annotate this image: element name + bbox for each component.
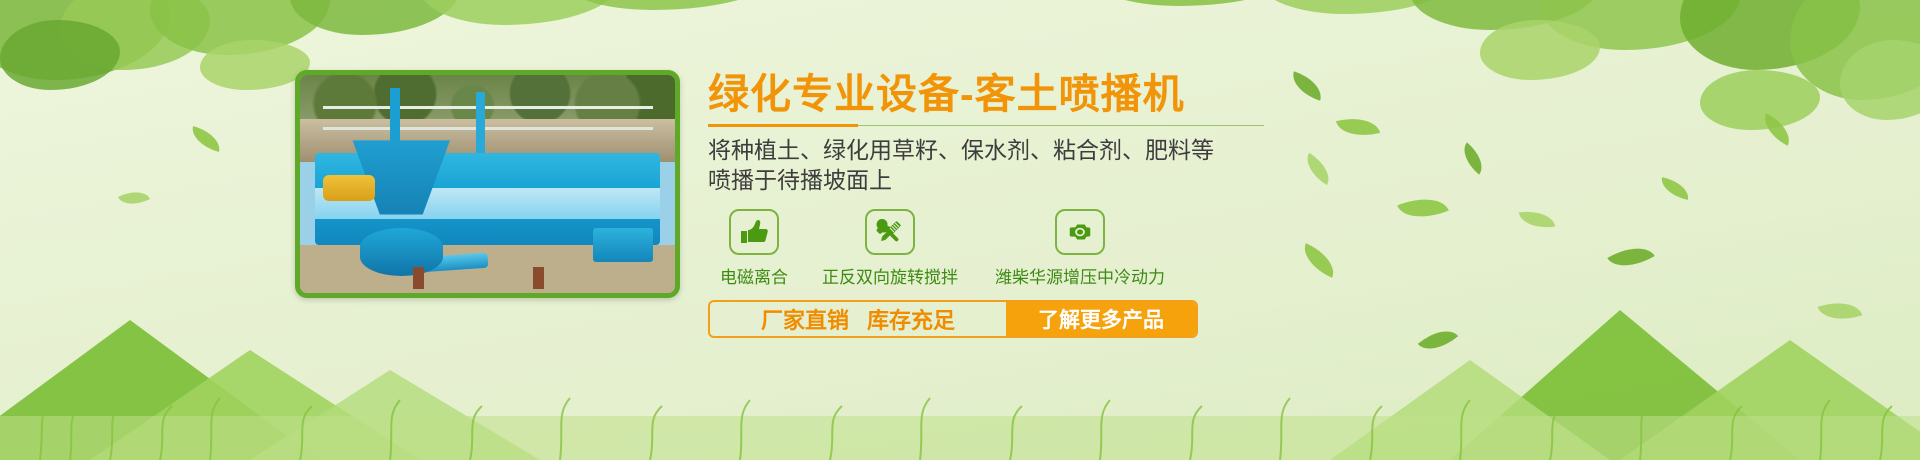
- leaf-decoration: [1300, 153, 1337, 185]
- leaf-decoration: [1288, 71, 1327, 101]
- feature-icon-box: [865, 209, 915, 255]
- feature-label: 电磁离合: [720, 263, 788, 288]
- grass-strip-decoration: [0, 350, 1920, 460]
- leaf-decoration: [1336, 111, 1380, 142]
- page-title: 绿化专业设备-客土喷播机: [708, 70, 1268, 118]
- thumbs-up-icon: [739, 218, 769, 246]
- leaf-decoration: [1397, 188, 1449, 227]
- feature-item-weichai-engine[interactable]: 潍柴华源增压中冷动力: [980, 209, 1180, 288]
- leaf-decoration: [1519, 208, 1555, 232]
- subtitle-line-1: 将种植土、绿化用草籽、保水剂、粘合剂、肥料等: [708, 135, 1268, 165]
- engine-gear-icon: [1065, 218, 1095, 246]
- leaf-decoration: [1659, 177, 1692, 200]
- subtitle-line-2: 喷播于待播坡面上: [708, 165, 1268, 195]
- cta-slogan-left: 厂家直销: [761, 303, 849, 335]
- leaf-decoration: [1758, 113, 1797, 146]
- learn-more-button[interactable]: 了解更多产品: [1006, 302, 1196, 336]
- cta-bar: 厂家直销 库存充足 了解更多产品: [708, 300, 1198, 338]
- feature-label: 正反双向旋转搅拌: [822, 263, 958, 288]
- feature-list: 电磁离合: [708, 209, 1268, 288]
- title-divider: [708, 124, 1264, 127]
- wrench-screwdriver-icon: [875, 218, 905, 246]
- leaf-decoration: [1456, 142, 1490, 174]
- leaf-decoration: [188, 126, 224, 152]
- cta-slogan: 厂家直销 库存充足: [710, 302, 1006, 336]
- product-photo[interactable]: [295, 70, 680, 298]
- product-photo-image: [300, 75, 675, 293]
- feature-item-bidirectional-mixing[interactable]: 正反双向旋转搅拌: [800, 209, 980, 288]
- feature-item-electromagnetic-clutch[interactable]: 电磁离合: [708, 209, 800, 288]
- feature-icon-box: [729, 209, 779, 255]
- promo-banner: 绿化专业设备-客土喷播机 将种植土、绿化用草籽、保水剂、粘合剂、肥料等 喷播于待…: [0, 0, 1920, 460]
- leaf-decoration: [118, 185, 150, 212]
- cta-slogan-right: 库存充足: [867, 303, 955, 335]
- feature-label: 潍柴华源增压中冷动力: [995, 263, 1165, 288]
- feature-icon-box: [1055, 209, 1105, 255]
- banner-content: 绿化专业设备-客土喷播机 将种植土、绿化用草籽、保水剂、粘合剂、肥料等 喷播于待…: [708, 70, 1268, 338]
